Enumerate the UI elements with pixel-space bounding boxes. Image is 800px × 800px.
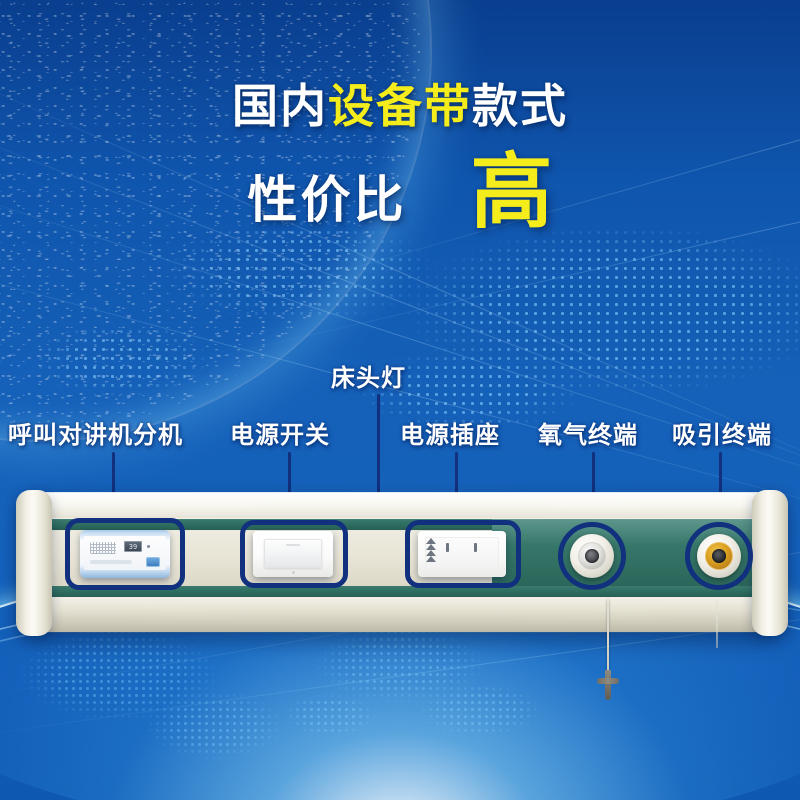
nurse-call-cord bbox=[607, 600, 609, 672]
secondary-cord bbox=[716, 600, 718, 648]
label-call-intercom: 呼叫对讲机分机 bbox=[8, 415, 183, 450]
suction-terminal-device[interactable] bbox=[697, 534, 741, 578]
rocker-switch-icon[interactable] bbox=[264, 539, 322, 568]
switch-screw bbox=[292, 571, 295, 574]
socket-slot-live-1 bbox=[446, 543, 449, 552]
label-power-switch: 电源开关 bbox=[230, 415, 330, 450]
power-switch-device[interactable] bbox=[253, 531, 333, 577]
intercom-faceplate: 39 bbox=[84, 536, 166, 570]
oxygen-port-core bbox=[585, 549, 599, 563]
intercom-call-button[interactable] bbox=[146, 557, 160, 567]
call-intercom-device[interactable]: 39 bbox=[80, 530, 170, 578]
label-bedside-lamp: 床头灯 bbox=[331, 358, 406, 393]
speaker-grille-icon bbox=[90, 542, 116, 554]
label-power-socket: 电源插座 bbox=[400, 415, 500, 450]
callout-labels: 呼叫对讲机分机 电源开关 床头灯 电源插座 氧气终端 吸引终端 bbox=[0, 0, 800, 800]
poster-canvas: 国内设备带款式 性价比 高 呼叫对讲机分机 电源开关 床头灯 电源插座 氧气终端… bbox=[0, 0, 800, 800]
label-oxygen-terminal: 氧气终端 bbox=[538, 415, 638, 450]
power-socket-device[interactable] bbox=[418, 531, 506, 577]
socket-faceplate bbox=[425, 537, 499, 570]
suction-port-core bbox=[712, 549, 726, 563]
socket-slot-angled-4 bbox=[426, 556, 436, 562]
nurse-call-pear-button[interactable] bbox=[597, 670, 619, 700]
indicator-led-icon bbox=[147, 545, 150, 548]
intercom-slot bbox=[90, 560, 132, 564]
label-suction-terminal: 吸引终端 bbox=[672, 415, 772, 450]
socket-slot-live-2 bbox=[474, 543, 477, 552]
pear-crossbar bbox=[597, 678, 619, 684]
intercom-display: 39 bbox=[124, 541, 142, 552]
oxygen-terminal-device[interactable] bbox=[570, 534, 614, 578]
pear-body bbox=[605, 670, 611, 700]
